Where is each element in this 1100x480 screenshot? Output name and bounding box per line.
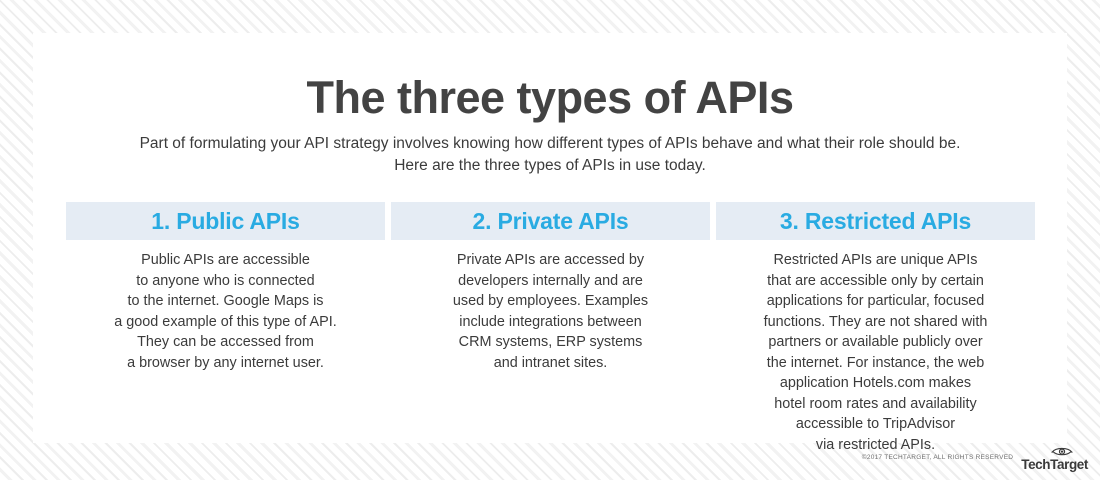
body-line: Public APIs are accessible	[66, 250, 385, 271]
column-title-restricted: 3. Restricted APIs	[780, 209, 971, 233]
column-header-private: 2. Private APIs	[391, 202, 710, 240]
body-line: and intranet sites.	[391, 353, 710, 374]
api-type-columns: 1. Public APIs Public APIs are accessibl…	[66, 202, 1034, 455]
column-restricted-apis: 3. Restricted APIs Restricted APIs are u…	[716, 202, 1035, 455]
body-line: accessible to TripAdvisor	[716, 414, 1035, 435]
body-line: CRM systems, ERP systems	[391, 332, 710, 353]
column-header-public: 1. Public APIs	[66, 202, 385, 240]
column-header-restricted: 3. Restricted APIs	[716, 202, 1035, 240]
column-private-apis: 2. Private APIs Private APIs are accesse…	[391, 202, 710, 455]
infographic-canvas: The three types of APIs Part of formulat…	[0, 0, 1100, 480]
page-title: The three types of APIs	[33, 33, 1067, 124]
subtitle-line-1: Part of formulating your API strategy in…	[33, 133, 1067, 155]
body-line: to anyone who is connected	[66, 271, 385, 292]
body-line: Private APIs are accessed by	[391, 250, 710, 271]
body-line: developers internally and are	[391, 271, 710, 292]
body-line: partners or available publicly over	[716, 332, 1035, 353]
techtarget-logo: TechTarget	[1021, 444, 1088, 472]
content-card: The three types of APIs Part of formulat…	[33, 33, 1067, 443]
column-title-private: 2. Private APIs	[473, 209, 629, 233]
body-line: They can be accessed from	[66, 332, 385, 353]
column-body-restricted: Restricted APIs are unique APIs that are…	[716, 240, 1035, 455]
body-line: that are accessible only by certain	[716, 271, 1035, 292]
body-line: the internet. For instance, the web	[716, 353, 1035, 374]
body-line: include integrations between	[391, 312, 710, 333]
body-line: applications for particular, focused	[716, 291, 1035, 312]
body-line: a good example of this type of API.	[66, 312, 385, 333]
techtarget-logo-text: TechTarget	[1021, 458, 1088, 472]
subtitle-line-2: Here are the three types of APIs in use …	[33, 155, 1067, 177]
footer: ©2017 TECHTARGET, ALL RIGHTS RESERVED Te…	[862, 444, 1088, 472]
body-line: to the internet. Google Maps is	[66, 291, 385, 312]
copyright-notice: ©2017 TECHTARGET, ALL RIGHTS RESERVED	[862, 454, 1013, 461]
body-line: functions. They are not shared with	[716, 312, 1035, 333]
body-line: Restricted APIs are unique APIs	[716, 250, 1035, 271]
column-body-private: Private APIs are accessed by developers …	[391, 240, 710, 373]
subtitle: Part of formulating your API strategy in…	[33, 124, 1067, 177]
body-line: a browser by any internet user.	[66, 353, 385, 374]
column-body-public: Public APIs are accessible to anyone who…	[66, 240, 385, 373]
body-line: application Hotels.com makes	[716, 373, 1035, 394]
body-line: hotel room rates and availability	[716, 394, 1035, 415]
column-public-apis: 1. Public APIs Public APIs are accessibl…	[66, 202, 385, 455]
body-line: used by employees. Examples	[391, 291, 710, 312]
column-title-public: 1. Public APIs	[151, 209, 299, 233]
